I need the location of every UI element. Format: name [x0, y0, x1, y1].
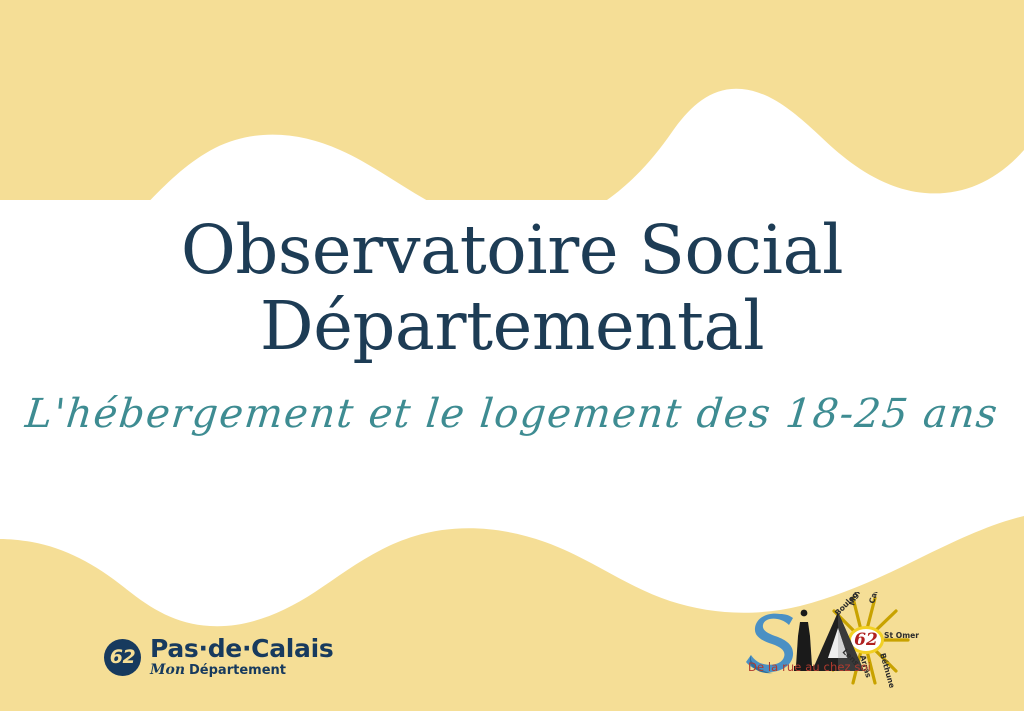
department-name: Pas·de·Calais: [150, 636, 333, 661]
sia-center-number: 62: [854, 630, 878, 650]
sia-tagline: De la rue au chez soi: [748, 660, 871, 674]
title-block: Observatoire Social Départemental L'hébe…: [0, 212, 1024, 440]
cover-slide: Observatoire Social Départemental L'hébe…: [0, 0, 1024, 711]
pas-de-calais-logo: 62 Pas·de·Calais Mon Département: [104, 636, 333, 678]
sunburst-label-st-omer: St Omer: [884, 631, 919, 640]
department-badge-number: 62: [110, 648, 135, 667]
top-yellow-wave: [0, 0, 1024, 200]
sia-logo: Boulogne Montreuil Calais St Omer Béthun…: [742, 592, 922, 690]
pas-de-calais-wordmark: Pas·de·Calais Mon Département: [150, 636, 333, 678]
page-title-line-1: Observatoire Social: [0, 212, 1024, 288]
page-title-line-2: Départemental: [0, 288, 1024, 364]
department-badge-icon: 62: [104, 639, 141, 676]
sunburst-label-calais: Calais: [867, 592, 883, 605]
department-tagline-mon: Mon: [150, 663, 185, 677]
department-tagline-dept: Département: [189, 664, 286, 678]
department-tagline: Mon Département: [150, 663, 333, 678]
sia-logo-graphic: Boulogne Montreuil Calais St Omer Béthun…: [742, 592, 922, 690]
sunburst-label-montreuil: Montreuil: [847, 592, 867, 607]
page-subtitle: L'hébergement et le logement des 18-25 a…: [0, 388, 1024, 440]
